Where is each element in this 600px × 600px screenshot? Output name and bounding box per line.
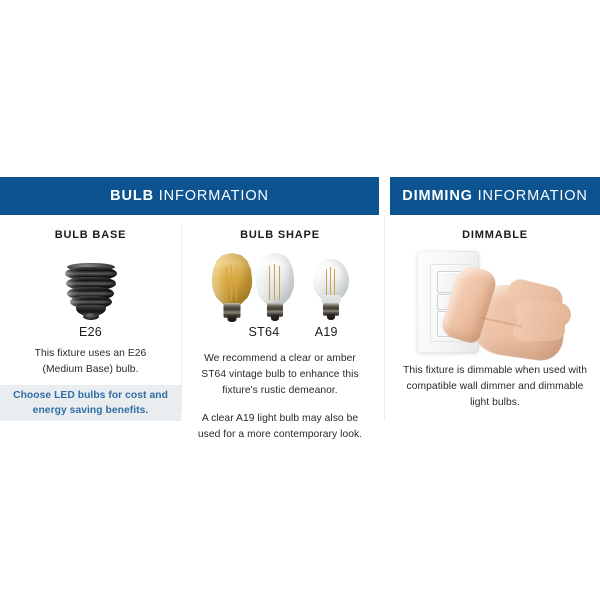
dimming-header-bold: DIMMING [402,188,473,204]
spec-sheet: BULB INFORMATION BULB BASE [0,0,600,600]
column-divider [181,225,182,413]
bulb-shape-column: BULB SHAPE [181,215,379,425]
bulb-header-bold: BULB [110,188,154,204]
bulb-shape-description-1: We recommend a clear or amber ST64 vinta… [193,351,367,399]
bulb-base-image [14,247,167,321]
bulb-shape-title: BULB SHAPE [191,229,369,241]
led-tip-text: Choose LED bulbs for cost and energy sav… [0,388,181,419]
e26-screw-base-icon [65,263,117,321]
dimmable-title: DIMMABLE [400,229,590,241]
bulb-header-light: INFORMATION [159,188,269,204]
bulb-information-header: BULB INFORMATION [0,177,379,215]
wall-dimmer-switch-with-hand-icon [409,247,581,357]
dimming-body: DIMMABLE This f [390,215,600,411]
st64-amber-bulb-icon [211,253,253,321]
led-tip-box: Choose LED bulbs for cost and energy sav… [0,385,181,421]
dimming-header-light: INFORMATION [478,188,588,204]
a19-label: A19 [315,325,338,339]
bulb-base-title: BULB BASE [14,229,167,241]
bulb-shape-description-2: A clear A19 light bulb may also be used … [193,411,367,443]
bulb-shape-labels: ST64 A19 [191,325,369,343]
bulb-base-value: E26 [14,325,167,339]
st64-label: ST64 [249,325,280,339]
bulb-base-description: This fixture uses an E26 (Medium Base) b… [16,346,165,378]
dimmable-description: This fixture is dimmable when used with … [402,363,588,411]
dimming-information-panel: DIMMING INFORMATION DIMMABLE [390,177,600,425]
bulb-shape-image [191,247,369,321]
dimming-information-header: DIMMING INFORMATION [390,177,600,215]
a19-clear-bulb-icon [313,259,349,321]
st64-clear-bulb-icon [255,253,295,321]
hand-icon [449,263,577,357]
panel-divider [384,216,385,421]
